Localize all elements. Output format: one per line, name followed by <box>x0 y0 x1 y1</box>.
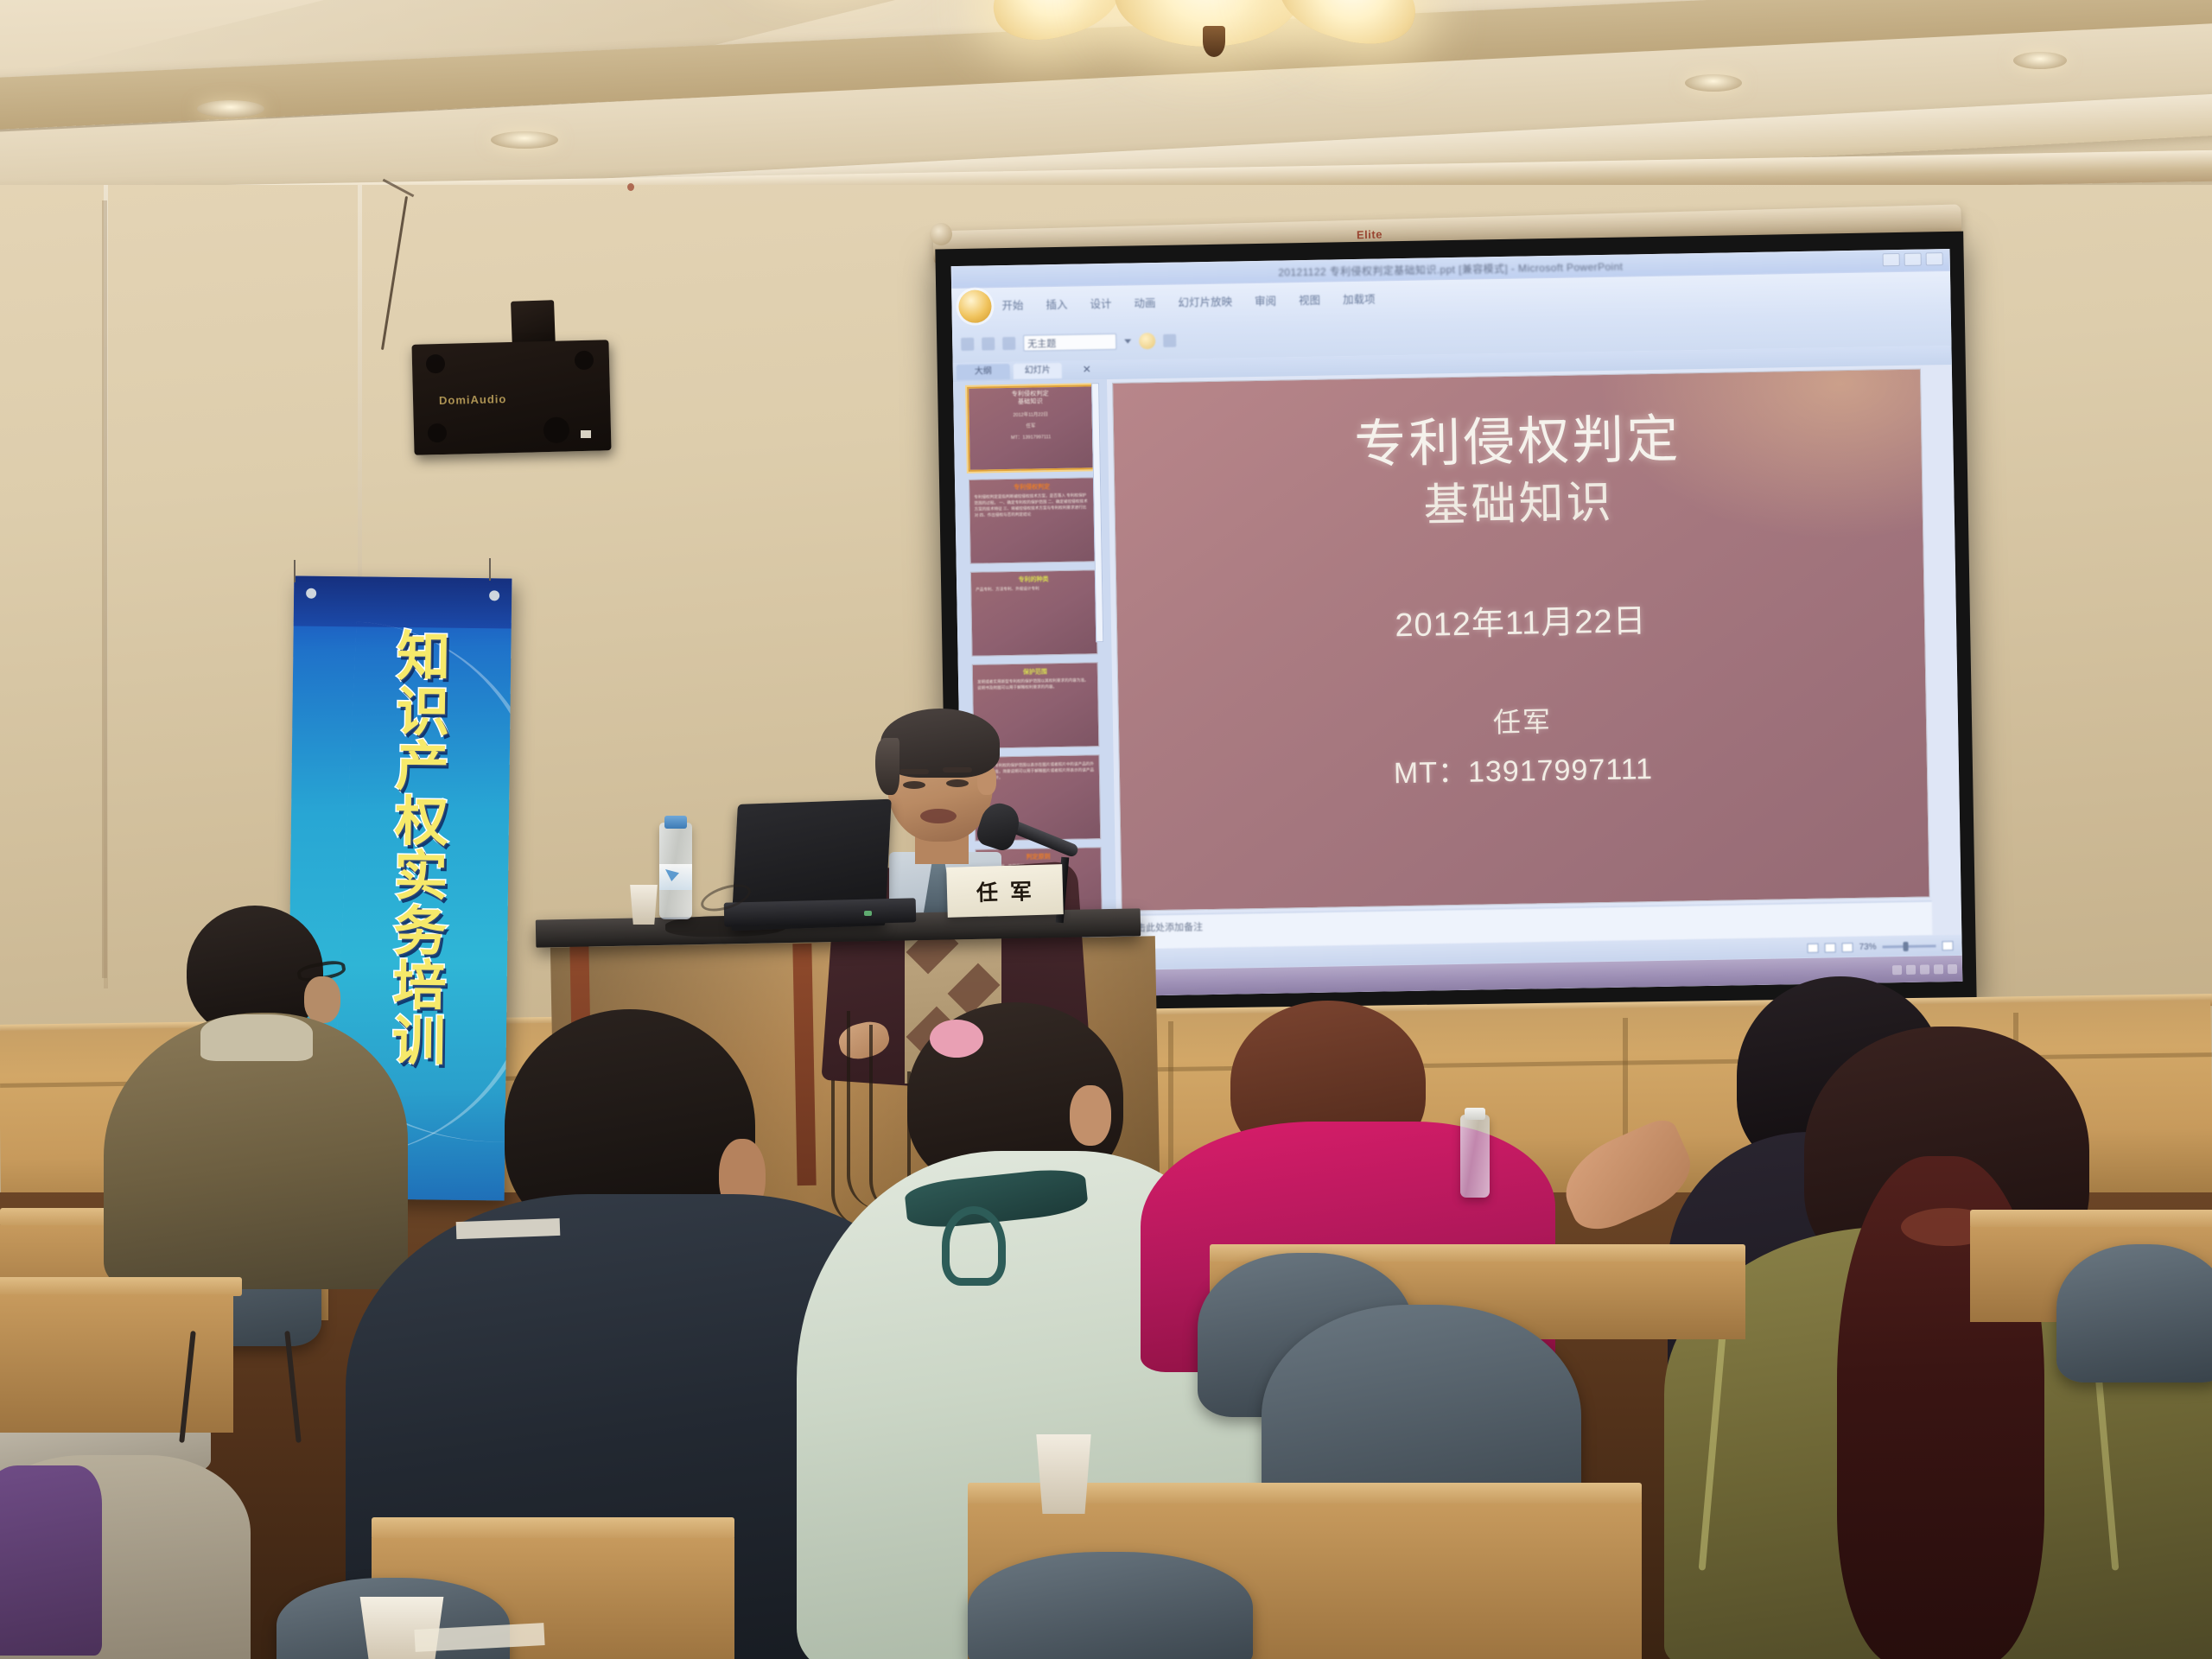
person-ear <box>1070 1085 1111 1146</box>
lamp-globe-left-icon <box>983 0 1130 53</box>
chair <box>968 1552 1253 1659</box>
speaker-screw-icon <box>428 423 448 443</box>
thumb-body: 产品专利、方法专利、外观设计专利 <box>976 585 1091 593</box>
office-orb-icon[interactable] <box>958 289 992 323</box>
lecture-hall-photo: DomiAudio Elite 20121122 专利侵权判定基础知识.ppt … <box>0 0 2212 1659</box>
laptop-keyboard-base <box>724 898 917 926</box>
window-title: 20121122 专利侵权判定基础知识.ppt [兼容模式] - Microso… <box>1278 258 1623 279</box>
downlight-icon <box>197 100 264 118</box>
speaker-brand-label: DomiAudio <box>439 392 507 407</box>
thumb-date: 2012年11月22日 <box>974 410 1088 418</box>
banner-grommet-icon <box>489 590 499 601</box>
presenter-hair-side <box>875 738 899 795</box>
projection-screen-surface: 20121122 专利侵权判定基础知识.ppt [兼容模式] - Microso… <box>951 249 1963 999</box>
tray-icon[interactable] <box>1906 964 1916 974</box>
drawstring-bow <box>942 1206 1006 1286</box>
tray-icon[interactable] <box>1920 964 1929 974</box>
desk <box>0 1277 242 1296</box>
banner-char-3: 产 <box>395 741 449 792</box>
wall-screw-icon <box>627 183 634 191</box>
tab-design[interactable]: 设计 <box>1090 295 1111 311</box>
minimize-icon[interactable] <box>1883 253 1900 266</box>
close-pane-icon[interactable]: ✕ <box>1083 363 1091 375</box>
fit-to-window-icon[interactable] <box>1942 941 1953 950</box>
thumb-body: 发明或者实用新型专利权的保护范围以其权利要求的内容为准。 说明书及附图可以用于解… <box>977 677 1093 691</box>
presenter-eye <box>903 781 925 789</box>
slide-presenter-name: 任军 <box>1493 700 1553 741</box>
slide-stage[interactable]: 专利侵权判定 基础知识 2012年11月22日 任军 MT：1391799711… <box>1110 367 1932 913</box>
restore-icon[interactable] <box>1904 253 1922 266</box>
thumb-body: 专利侵权判定是指判断被控侵权技术方案，是否落入 专利权保护范围的过程。 一、确定… <box>974 493 1090 518</box>
thumb-contact: MT：13917997111 <box>974 432 1088 441</box>
presenter-eyebrow <box>899 769 929 774</box>
zoom-slider-knob[interactable] <box>1903 941 1908 950</box>
slide-date: 2012年11月22日 <box>1395 594 1647 645</box>
downlight-icon <box>1685 74 1742 92</box>
tab-slides[interactable]: 大纲 <box>957 364 1010 380</box>
banner-char-4: 权 <box>395 795 449 847</box>
placard-char-2: 军 <box>1009 874 1033 906</box>
speaker-screw-icon <box>575 351 594 371</box>
zoom-level: 73% <box>1859 942 1876 951</box>
thumb-heading: 专利的种类 <box>976 574 1091 584</box>
chair <box>2056 1244 2212 1382</box>
ribbon-tabs[interactable]: 开始 插入 设计 动画 幻灯片放映 审阅 视图 加载项 <box>1001 290 1375 314</box>
slide-title-line1: 专利侵权判定 <box>1354 408 1681 477</box>
thumb-presenter: 任军 <box>974 421 1088 429</box>
banner-hanging-wire <box>294 560 296 582</box>
downlight-icon <box>491 131 558 149</box>
slide-title-line2: 基础知识 <box>1423 475 1614 533</box>
tab-outline[interactable]: 幻灯片 <box>1014 363 1062 379</box>
view-sorter-icon[interactable] <box>1824 943 1835 952</box>
status-right-group[interactable]: 73% <box>1807 941 1953 953</box>
name-placard: 任 军 <box>946 864 1064 918</box>
bottle-cap <box>664 816 687 829</box>
tab-review[interactable]: 审阅 <box>1255 292 1276 308</box>
presenter-eyebrow <box>943 767 972 772</box>
slide-thumbnail[interactable]: 1 专利侵权判定 基础知识 2012年11月22日 任军 MT：13917997… <box>967 385 1095 472</box>
thumb-heading: 专利侵权判定 <box>974 481 1090 492</box>
slide-contact: MT：13917997111 <box>1393 745 1653 791</box>
view-normal-icon[interactable] <box>1807 943 1818 952</box>
cut-icon[interactable] <box>982 337 995 350</box>
slide-thumbnail[interactable]: 2 专利侵权判定 专利侵权判定是指判断被控侵权技术方案，是否落入 专利权保护范围… <box>969 477 1096 564</box>
zoom-slider[interactable] <box>1883 944 1936 948</box>
window-controls[interactable] <box>1883 252 1943 266</box>
format-painter-icon[interactable] <box>1002 336 1015 349</box>
banner-hanging-wire <box>489 558 491 581</box>
banner-grommet-icon <box>306 588 316 599</box>
paper-cup <box>628 885 659 925</box>
audience-member <box>104 906 415 1277</box>
speaker-screw-icon <box>426 354 446 374</box>
tab-home[interactable]: 开始 <box>1001 296 1023 313</box>
speaker-cone-icon <box>543 416 570 443</box>
scarf <box>0 1465 102 1656</box>
tab-animations[interactable]: 动画 <box>1134 294 1155 310</box>
banner-char-1: 知 <box>397 631 451 683</box>
theme-select[interactable]: 无主题 <box>1023 333 1116 351</box>
powerpoint-window[interactable]: 20121122 专利侵权判定基础知识.ppt [兼容模式] - Microso… <box>951 249 1963 999</box>
wall-panel-edge <box>102 200 107 978</box>
bottle-label <box>659 864 692 890</box>
paper-cup <box>1033 1434 1095 1514</box>
downlight-icon <box>2013 52 2067 69</box>
tab-slideshow[interactable]: 幻灯片放映 <box>1178 292 1232 309</box>
view-slideshow-icon[interactable] <box>1841 943 1853 952</box>
clock-icon[interactable] <box>1948 963 1957 973</box>
paper-sheet <box>456 1218 561 1239</box>
banner-char-2: 识 <box>396 685 450 737</box>
ceiling-chandelier <box>976 0 1443 59</box>
bottle-cap <box>1465 1108 1485 1120</box>
thumb-title-2: 基础知识 <box>973 397 1087 407</box>
desk <box>1970 1210 2212 1229</box>
chevron-down-icon[interactable] <box>1124 339 1131 343</box>
theme-color-icon[interactable] <box>1139 333 1155 349</box>
water-bottle <box>1460 1115 1490 1198</box>
person-ear <box>304 976 340 1023</box>
roller-brand-label: Elite <box>1357 228 1382 242</box>
system-tray[interactable] <box>1892 963 1957 974</box>
presenter-eye <box>946 779 969 787</box>
current-slide[interactable]: 专利侵权判定 基础知识 2012年11月22日 任军 MT：1391799711… <box>1112 369 1930 912</box>
more-options-icon[interactable] <box>1163 334 1176 346</box>
paste-icon[interactable] <box>961 337 974 350</box>
lamp-globe-right-icon <box>1270 0 1426 57</box>
slide-thumbnail[interactable]: 3 专利的种类 产品专利、方法专利、外观设计专利 <box>970 569 1098 657</box>
projection-screen: 20121122 专利侵权判定基础知识.ppt [兼容模式] - Microso… <box>935 232 1976 1019</box>
desk <box>372 1517 734 1540</box>
shirt-collar <box>200 1014 313 1061</box>
chandelier-stem <box>1203 26 1225 57</box>
presenter-mouth <box>920 809 957 823</box>
tab-view[interactable]: 视图 <box>1299 291 1320 308</box>
banner-char-5: 实 <box>394 850 448 902</box>
tray-icon[interactable] <box>1934 964 1943 974</box>
close-icon[interactable] <box>1926 252 1943 265</box>
placard-char-1: 任 <box>976 875 1000 907</box>
hair-tie-icon <box>930 1020 983 1058</box>
tab-addins[interactable]: 加载项 <box>1343 290 1376 308</box>
laptop-led-icon <box>864 911 872 916</box>
speaker-led-icon <box>581 430 591 438</box>
desk-front-panel <box>0 1294 233 1433</box>
tab-insert[interactable]: 插入 <box>1046 296 1067 312</box>
tray-icon[interactable] <box>1892 965 1902 975</box>
thumb-heading: 保护范围 <box>977 666 1093 677</box>
